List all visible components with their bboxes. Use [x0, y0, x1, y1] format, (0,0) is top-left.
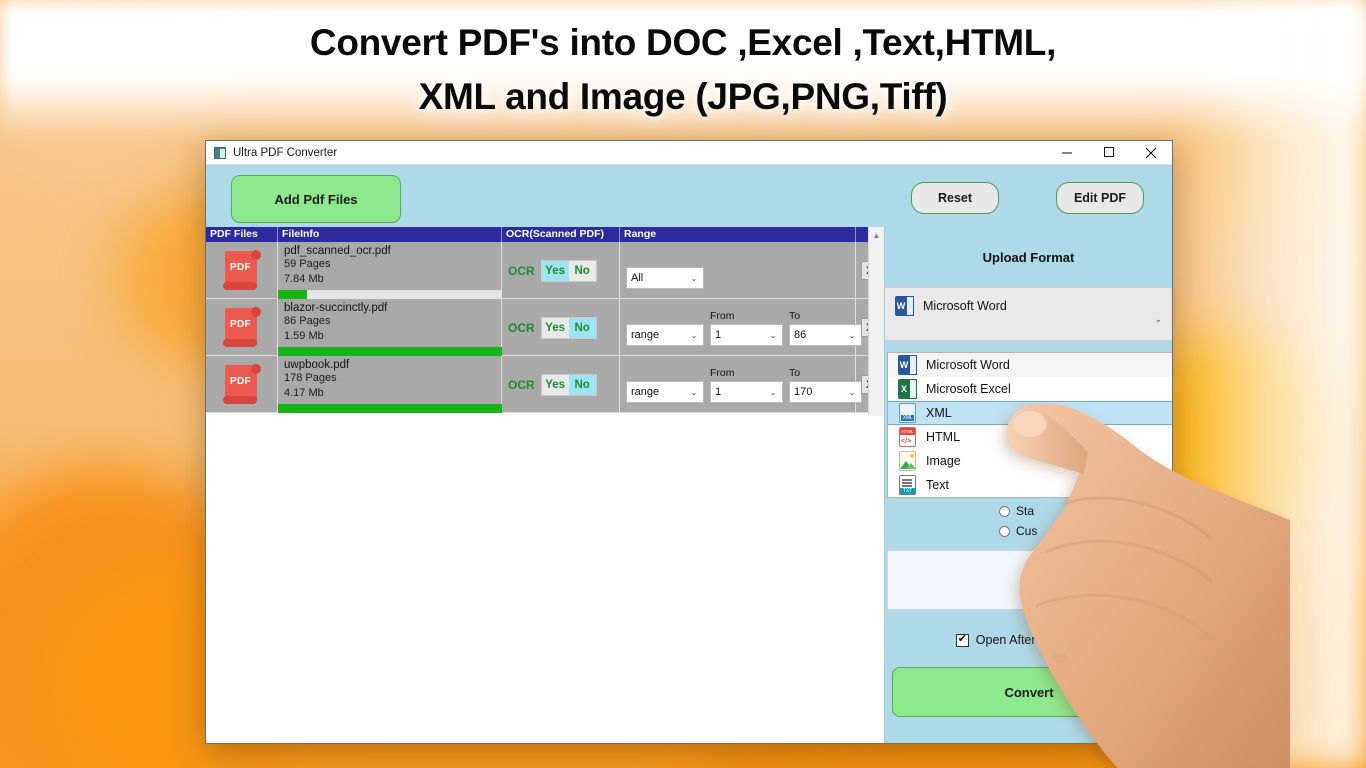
- format-option-label: XML: [926, 406, 952, 420]
- pdf-file-icon: PDF: [221, 306, 263, 350]
- to-label: To: [789, 309, 862, 324]
- row-ocr-cell: OCR Yes No: [502, 242, 620, 299]
- range-to-group: To 86 ⌄: [789, 309, 862, 346]
- column-header-pdf-files: PDF Files: [206, 227, 278, 242]
- panel-title: Upload Format: [885, 227, 1172, 287]
- range-mode-group: range ⌄: [626, 309, 704, 346]
- add-pdf-files-button[interactable]: Add Pdf Files: [231, 175, 401, 223]
- file-name: uwpbook.pdf: [284, 359, 495, 371]
- format-option-label: Microsoft Word: [926, 358, 1010, 372]
- reset-button[interactable]: Reset: [911, 182, 999, 214]
- chevron-down-icon: ⌄: [689, 274, 699, 283]
- ocr-label: OCR: [508, 321, 535, 335]
- range-mode-value: All: [631, 272, 689, 284]
- format-option-xml[interactable]: XML XML: [888, 401, 1172, 425]
- file-list-scrollbar[interactable]: ▲: [868, 227, 884, 416]
- grid-header: PDF Files FileInfo OCR(Scanned PDF) Rang…: [206, 227, 884, 242]
- file-list-area: PDF Files FileInfo OCR(Scanned PDF) Rang…: [206, 227, 884, 744]
- row-range-cell: range ⌄ From 1 ⌄ To 170: [620, 356, 856, 413]
- row-range-cell: range ⌄ From 1 ⌄ To 86: [620, 299, 856, 356]
- word-icon: W: [895, 296, 914, 316]
- minimize-icon[interactable]: [1046, 141, 1088, 165]
- maximize-icon[interactable]: [1088, 141, 1130, 165]
- range-to-value: 170: [794, 386, 847, 398]
- ocr-yes-option[interactable]: Yes: [542, 318, 569, 338]
- file-size: 4.17 Mb: [284, 386, 495, 401]
- pdf-file-icon: PDF: [221, 363, 263, 407]
- format-option-label: HTML: [926, 430, 960, 444]
- progress-fill: [278, 404, 502, 413]
- file-name: pdf_scanned_ocr.pdf: [284, 245, 495, 257]
- range-from-select[interactable]: 1 ⌄: [710, 381, 783, 403]
- file-name: blazor-succinctly.pdf: [284, 302, 495, 314]
- column-header-fileinfo: FileInfo: [278, 227, 502, 242]
- range-mode-group: range ⌄: [626, 366, 704, 403]
- ocr-label: OCR: [508, 378, 535, 392]
- radio-custom[interactable]: Cus: [999, 524, 1037, 538]
- range-to-select[interactable]: 86 ⌄: [789, 324, 862, 346]
- progress-fill: [278, 347, 502, 356]
- convert-button[interactable]: Convert: [892, 667, 1166, 717]
- column-header-ocr: OCR(Scanned PDF): [502, 227, 620, 242]
- headline-line-2: XML and Image (JPG,PNG,Tiff): [0, 70, 1366, 124]
- radio-icon: [999, 506, 1010, 517]
- ocr-no-option[interactable]: No: [569, 318, 596, 338]
- range-mode-select[interactable]: All ⌄: [626, 267, 704, 289]
- output-path-box[interactable]: [887, 550, 1173, 610]
- format-option-text[interactable]: TXT Text: [888, 473, 1172, 497]
- image-icon: [898, 451, 917, 471]
- chevron-down-icon: ⌄: [768, 331, 778, 340]
- range-mode-spacer: [626, 252, 704, 267]
- excel-icon: X: [898, 379, 917, 399]
- range-mode-spacer: [626, 366, 704, 381]
- text-icon: TXT: [898, 475, 917, 495]
- row-fileinfo-cell: pdf_scanned_ocr.pdf 59 Pages 7.84 Mb: [278, 242, 502, 299]
- progress-fill: [278, 290, 307, 299]
- open-after-conversion-label: Open After Conversion: [976, 633, 1102, 647]
- close-icon[interactable]: [1130, 141, 1172, 165]
- row-icon-cell: PDF: [206, 299, 278, 356]
- selected-format: W Microsoft Word: [895, 294, 1007, 318]
- headline-line-1: Convert PDF's into DOC ,Excel ,Text,HTML…: [0, 16, 1366, 70]
- html-icon: HTML</>: [898, 427, 917, 447]
- table-row[interactable]: PDF pdf_scanned_ocr.pdf 59 Pages 7.84 Mb…: [206, 242, 884, 299]
- row-ocr-cell: OCR Yes No: [502, 299, 620, 356]
- format-option-html[interactable]: HTML</> HTML: [888, 425, 1172, 449]
- chevron-down-icon: ⌄: [1154, 314, 1162, 325]
- output-location-radios: Sta Cus: [885, 506, 1173, 546]
- range-from-value: 1: [715, 386, 768, 398]
- open-after-conversion-checkbox[interactable]: Open After Conversion: [885, 619, 1173, 661]
- range-mode-select[interactable]: range ⌄: [626, 324, 704, 346]
- row-fileinfo-cell: blazor-succinctly.pdf 86 Pages 1.59 Mb: [278, 299, 502, 356]
- ocr-toggle[interactable]: Yes No: [541, 317, 597, 339]
- window-controls: [1046, 141, 1172, 165]
- word-icon: W: [898, 355, 917, 375]
- range-from-select[interactable]: 1 ⌄: [710, 324, 783, 346]
- row-range-cell: All ⌄: [620, 242, 856, 299]
- row-ocr-cell: OCR Yes No: [502, 356, 620, 413]
- row-fileinfo-cell: uwpbook.pdf 178 Pages 4.17 Mb: [278, 356, 502, 413]
- progress-bar: [278, 290, 502, 299]
- title-bar: Ultra PDF Converter: [206, 141, 1172, 165]
- upload-format-dropdown[interactable]: W Microsoft Word X Microsoft Excel XML X…: [887, 352, 1173, 498]
- selected-format-label: Microsoft Word: [923, 299, 1007, 313]
- radio-standard[interactable]: Sta: [999, 504, 1034, 518]
- chevron-down-icon: ⌄: [689, 331, 699, 340]
- file-pages: 178 Pages: [284, 371, 495, 386]
- promo-headline: Convert PDF's into DOC ,Excel ,Text,HTML…: [0, 16, 1366, 124]
- upload-format-panel: Upload Format W Microsoft Word ⌄ W Micro…: [884, 227, 1172, 744]
- format-option-label: Text: [926, 478, 949, 492]
- range-from-group: From 1 ⌄: [710, 366, 783, 403]
- ocr-no-option[interactable]: No: [569, 261, 596, 281]
- range-to-select[interactable]: 170 ⌄: [789, 381, 862, 403]
- radio-custom-label: Cus: [1016, 524, 1037, 538]
- range-mode-select[interactable]: range ⌄: [626, 381, 704, 403]
- format-option-excel[interactable]: X Microsoft Excel: [888, 377, 1172, 401]
- chevron-down-icon: ⌄: [689, 388, 699, 397]
- table-row[interactable]: PDF blazor-succinctly.pdf 86 Pages 1.59 …: [206, 299, 884, 356]
- range-from-value: 1: [715, 329, 768, 341]
- format-option-label: Microsoft Excel: [926, 382, 1011, 396]
- format-option-image[interactable]: Image: [888, 449, 1172, 473]
- progress-bar: [278, 347, 502, 356]
- application-window: Ultra PDF Converter Add Pdf Files Reset …: [205, 140, 1173, 744]
- row-icon-cell: PDF: [206, 242, 278, 299]
- file-size: 7.84 Mb: [284, 272, 495, 287]
- range-from-group: From 1 ⌄: [710, 309, 783, 346]
- window-body: PDF Files FileInfo OCR(Scanned PDF) Rang…: [206, 227, 1172, 744]
- format-option-word[interactable]: W Microsoft Word: [888, 353, 1172, 377]
- radio-standard-label: Sta: [1016, 504, 1034, 518]
- scroll-up-icon[interactable]: ▲: [869, 227, 884, 243]
- to-label: To: [789, 366, 862, 381]
- checkbox-icon[interactable]: [956, 634, 969, 647]
- toolbar: Add Pdf Files Reset Edit PDF: [206, 165, 1172, 227]
- file-pages: 86 Pages: [284, 314, 495, 329]
- edit-pdf-button[interactable]: Edit PDF: [1056, 182, 1144, 214]
- range-mode-value: range: [631, 329, 689, 341]
- ocr-yes-option[interactable]: Yes: [542, 261, 569, 281]
- ocr-toggle[interactable]: Yes No: [541, 260, 597, 282]
- ocr-toggle[interactable]: Yes No: [541, 374, 597, 396]
- from-label: From: [710, 366, 783, 381]
- file-pages: 59 Pages: [284, 257, 495, 272]
- table-row[interactable]: PDF uwpbook.pdf 178 Pages 4.17 Mb OCR Ye…: [206, 356, 884, 413]
- range-mode-value: range: [631, 386, 689, 398]
- ocr-no-option[interactable]: No: [569, 375, 596, 395]
- ocr-yes-option[interactable]: Yes: [542, 375, 569, 395]
- progress-bar: [278, 404, 502, 413]
- upload-format-select[interactable]: W Microsoft Word ⌄: [885, 287, 1172, 341]
- row-icon-cell: PDF: [206, 356, 278, 413]
- range-mode-group: All ⌄: [626, 252, 704, 289]
- file-size: 1.59 Mb: [284, 329, 495, 344]
- chevron-down-icon: ⌄: [768, 388, 778, 397]
- range-to-group: To 170 ⌄: [789, 366, 862, 403]
- from-label: From: [710, 309, 783, 324]
- xml-icon: XML: [898, 403, 917, 423]
- format-option-label: Image: [926, 454, 961, 468]
- radio-icon: [999, 526, 1010, 537]
- range-mode-spacer: [626, 309, 704, 324]
- pdf-file-icon: PDF: [221, 249, 263, 293]
- ocr-label: OCR: [508, 264, 535, 278]
- app-icon: [214, 147, 226, 159]
- range-to-value: 86: [794, 329, 847, 341]
- window-title: Ultra PDF Converter: [233, 147, 337, 159]
- column-header-range: Range: [620, 227, 856, 242]
